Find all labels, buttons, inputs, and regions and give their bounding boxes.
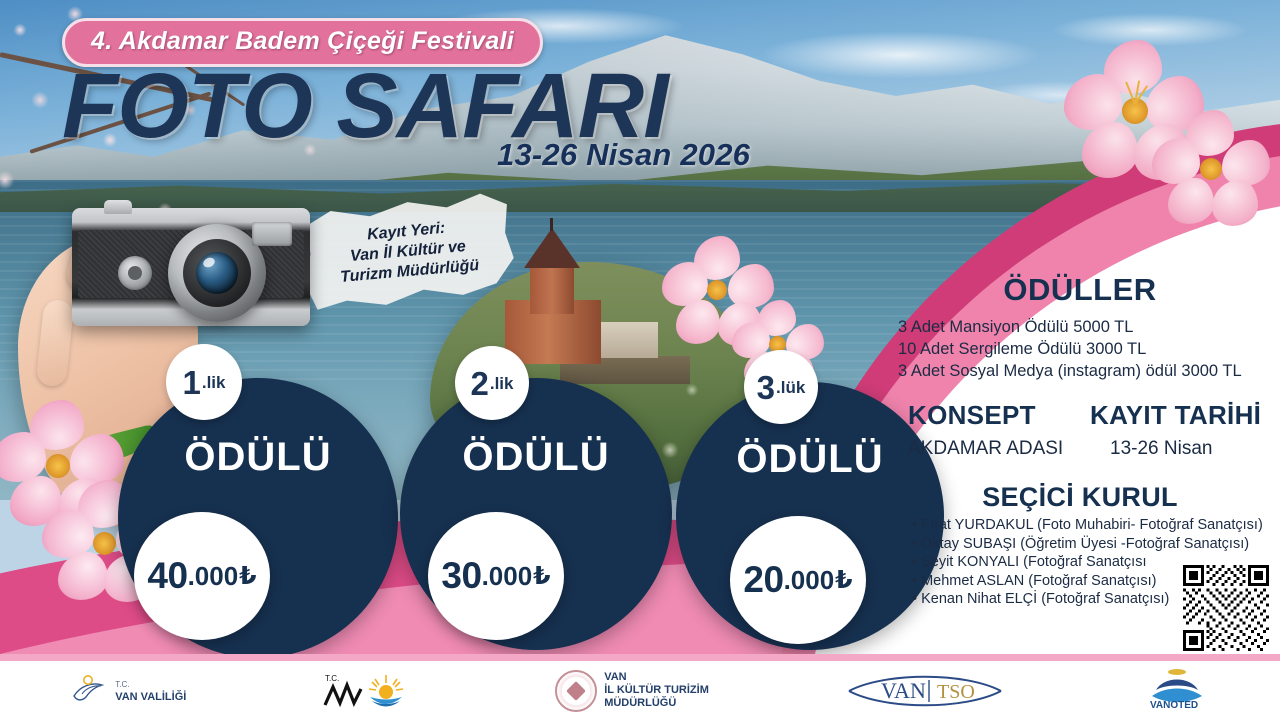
jury-member: • Fırat YURDAKUL (Foto Muhabiri- Fotoğra… <box>912 516 1272 535</box>
rank-number-2: 2 <box>471 367 489 400</box>
petal <box>0 432 46 482</box>
concept-value: AKDAMAR ADASI <box>908 438 1063 460</box>
rank-number-1: 1 <box>183 366 201 399</box>
camera-shutter-button <box>104 200 132 214</box>
ministry-seal-icon <box>555 670 597 712</box>
blossom-center <box>46 454 70 478</box>
petal <box>1082 122 1138 178</box>
sponsor-footer: T.C. VAN VALİLİĞİ T.C. <box>0 654 1280 720</box>
awards-line: 3 Adet Mansiyon Ödülü 5000 TL <box>898 316 1280 338</box>
awards-list: 3 Adet Mansiyon Ödülü 5000 TL 10 Adet Se… <box>898 316 1280 382</box>
vanoted-icon: VANOTED <box>1142 668 1212 714</box>
registration-date-value: 13-26 Nisan <box>1110 438 1212 460</box>
logo-van-il-kultur-turizm: VAN İL KÜLTÜR TURİZİM MÜDÜRLÜĞÜ <box>555 670 709 712</box>
awards-line: 3 Adet Sosyal Medya (instagram) ödül 300… <box>898 360 1280 382</box>
tso-van-label: VAN <box>881 678 926 703</box>
vanoted-label: VANOTED <box>1150 700 1198 711</box>
prize-label-1: ÖDÜLÜ <box>118 435 398 480</box>
amount-minor-2: .000 <box>482 561 533 592</box>
rank-badge-2: 2 .lik <box>455 346 529 420</box>
van-valiligi-bird-icon <box>68 674 108 708</box>
prize-label-3: ÖDÜLÜ <box>676 437 944 482</box>
petal <box>1168 178 1214 224</box>
logo-van-valiligi: T.C. VAN VALİLİĞİ <box>68 674 186 708</box>
camera-strap-lug <box>118 256 152 290</box>
rank-badge-1: 1 .lik <box>166 344 242 420</box>
akdamar-church-tower <box>530 262 574 314</box>
camera-viewfinder-window <box>252 222 292 246</box>
logo-van-buyuksehir-belediyesi: T.C. <box>323 671 419 711</box>
logo-van-tso: VAN TSO <box>845 670 1005 712</box>
rank-number-3: 3 <box>757 371 775 404</box>
petal <box>70 434 124 484</box>
amount-circle-2: 30 .000 ₺ <box>428 512 564 640</box>
petal <box>58 552 108 600</box>
concept-heading: KONSEPT <box>908 400 1036 431</box>
logo-line-3: MÜDÜRLÜĞÜ <box>604 697 709 710</box>
belediye-tc-label: T.C. <box>325 674 339 683</box>
logo-vanoted: VANOTED <box>1142 668 1212 714</box>
logo-line-2: İL KÜLTÜR TURİZİM <box>604 684 709 697</box>
amount-major-3: 20 <box>743 559 783 601</box>
prize-label-2: ÖDÜLÜ <box>400 435 672 480</box>
church-cross-icon <box>550 218 553 231</box>
awards-line: 10 Adet Sergileme Ödülü 3000 TL <box>898 338 1280 360</box>
amount-minor-1: .000 <box>188 561 239 592</box>
van-valiligi-text: T.C. VAN VALİLİĞİ <box>115 678 186 704</box>
van-tso-icon: VAN TSO <box>845 670 1005 712</box>
qr-code-graphic <box>1183 565 1269 651</box>
amount-minor-3: .000 <box>784 565 835 596</box>
blossom-center <box>1200 158 1222 180</box>
amount-major-1: 40 <box>147 555 187 597</box>
registration-date-heading: KAYIT TARİHİ <box>1090 400 1261 431</box>
currency-symbol-3: ₺ <box>835 565 852 595</box>
rank-suffix-1: .lik <box>202 374 226 391</box>
akdamar-church-cone-roof <box>524 228 580 268</box>
jury-heading: SEÇİCİ KURUL <box>880 482 1280 513</box>
camera-lens-glass <box>196 252 238 294</box>
currency-symbol-1: ₺ <box>239 561 256 591</box>
event-date: 13-26 Nisan 2026 <box>497 137 750 173</box>
logo-line-2: VAN VALİLİĞİ <box>115 691 186 704</box>
blossom-right-lower <box>1150 110 1274 234</box>
rank-suffix-2: .lik <box>490 375 514 392</box>
jury-member: • Oktay SUBAŞI (Öğretim Üyesi -Fotoğraf … <box>912 535 1272 554</box>
van-belediyesi-sun-lake-icon: T.C. <box>323 671 419 711</box>
blossom-center <box>707 280 727 300</box>
kultur-turizm-text: VAN İL KÜLTÜR TURİZİM MÜDÜRLÜĞÜ <box>604 671 709 710</box>
church-annex <box>596 322 658 358</box>
poster-canvas: 4. Akdamar Badem Çiçeği Festivali FOTO S… <box>0 0 1280 720</box>
rank-suffix-3: .lük <box>776 379 805 396</box>
amount-circle-1: 40 .000 ₺ <box>134 512 270 640</box>
festival-banner-text: 4. Akdamar Badem Çiçeği Festivali <box>91 27 514 56</box>
petal <box>1212 180 1258 226</box>
petal <box>676 300 720 344</box>
currency-symbol-2: ₺ <box>533 561 550 591</box>
petal <box>42 510 94 558</box>
awards-heading: ÖDÜLLER <box>880 272 1280 308</box>
logo-line-1: T.C. <box>115 678 186 691</box>
tso-tso-label: TSO <box>937 681 975 703</box>
amount-major-2: 30 <box>441 555 481 597</box>
amount-circle-3: 20 .000 ₺ <box>730 516 866 644</box>
logo-line-1: VAN <box>604 671 709 684</box>
rank-badge-3: 3 .lük <box>744 350 818 424</box>
blossom-center <box>93 532 116 555</box>
qr-code[interactable] <box>1180 562 1272 654</box>
